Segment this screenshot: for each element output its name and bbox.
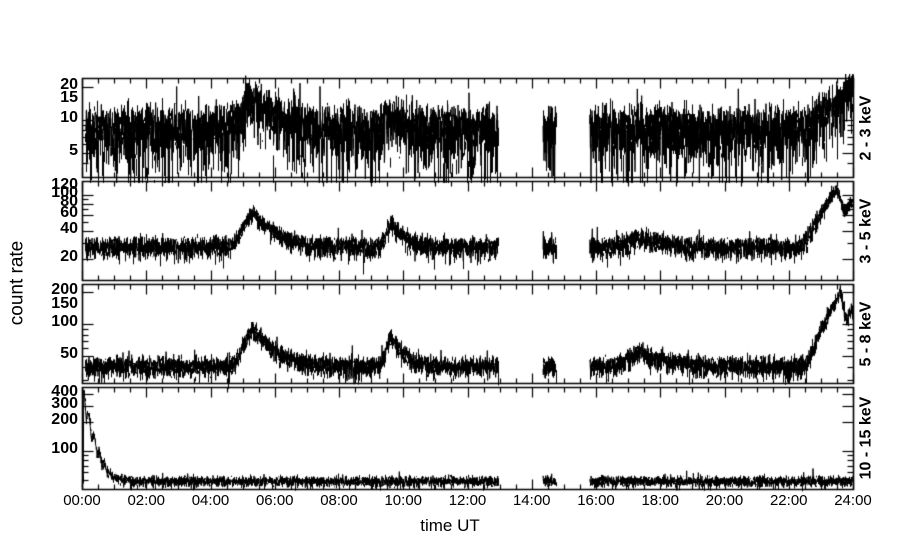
y-tick-label: 20 bbox=[20, 79, 78, 91]
x-tick-label: 22:00 bbox=[755, 494, 823, 508]
y-tick-label: 400 bbox=[20, 386, 78, 398]
y-tick-label: 5 bbox=[20, 145, 78, 157]
energy-band-label-text: 5 - 8 keV bbox=[857, 301, 875, 366]
x-tick-label: 18:00 bbox=[626, 494, 694, 508]
y-tick-label: 100 bbox=[20, 443, 78, 455]
energy-band-label: 10 - 15 keV bbox=[801, 428, 900, 448]
energy-band-label-text: 10 - 15 keV bbox=[857, 397, 875, 480]
y-tick-label: 20 bbox=[20, 251, 78, 263]
energy-band-label: 3 - 5 keV bbox=[801, 221, 900, 241]
y-tick-label: 200 bbox=[20, 284, 78, 296]
y-tick-label: 150 bbox=[20, 298, 78, 310]
x-tick-label: 10:00 bbox=[369, 494, 437, 508]
chart-root: INTERBALL-Tail RF15-I SOFT X-RAY EMISSIO… bbox=[0, 0, 900, 548]
x-tick-label: 00:00 bbox=[48, 494, 116, 508]
energy-band-label-text: 3 - 5 keV bbox=[857, 198, 875, 263]
x-tick-label: 14:00 bbox=[498, 494, 566, 508]
energy-band-label: 5 - 8 keV bbox=[801, 324, 900, 344]
y-tick-label: 40 bbox=[20, 223, 78, 235]
x-tick-label: 08:00 bbox=[305, 494, 373, 508]
x-tick-label: 02:00 bbox=[112, 494, 180, 508]
x-tick-label: 12:00 bbox=[434, 494, 502, 508]
plot-canvas bbox=[0, 0, 900, 548]
y-tick-label: 50 bbox=[20, 348, 78, 360]
x-tick-label: 20:00 bbox=[691, 494, 759, 508]
y-tick-label: 15 bbox=[20, 92, 78, 104]
y-tick-label: 200 bbox=[20, 414, 78, 426]
x-tick-label: 06:00 bbox=[241, 494, 309, 508]
x-tick-label: 16:00 bbox=[562, 494, 630, 508]
energy-band-label: 2 - 3 keV bbox=[801, 118, 900, 138]
x-axis-label: time UT bbox=[0, 516, 900, 536]
y-tick-label: 120 bbox=[20, 179, 78, 191]
x-tick-label: 04:00 bbox=[177, 494, 245, 508]
y-tick-label: 100 bbox=[20, 316, 78, 328]
y-tick-label: 10 bbox=[20, 112, 78, 124]
x-tick-label: 24:00 bbox=[819, 494, 887, 508]
energy-band-label-text: 2 - 3 keV bbox=[857, 95, 875, 160]
